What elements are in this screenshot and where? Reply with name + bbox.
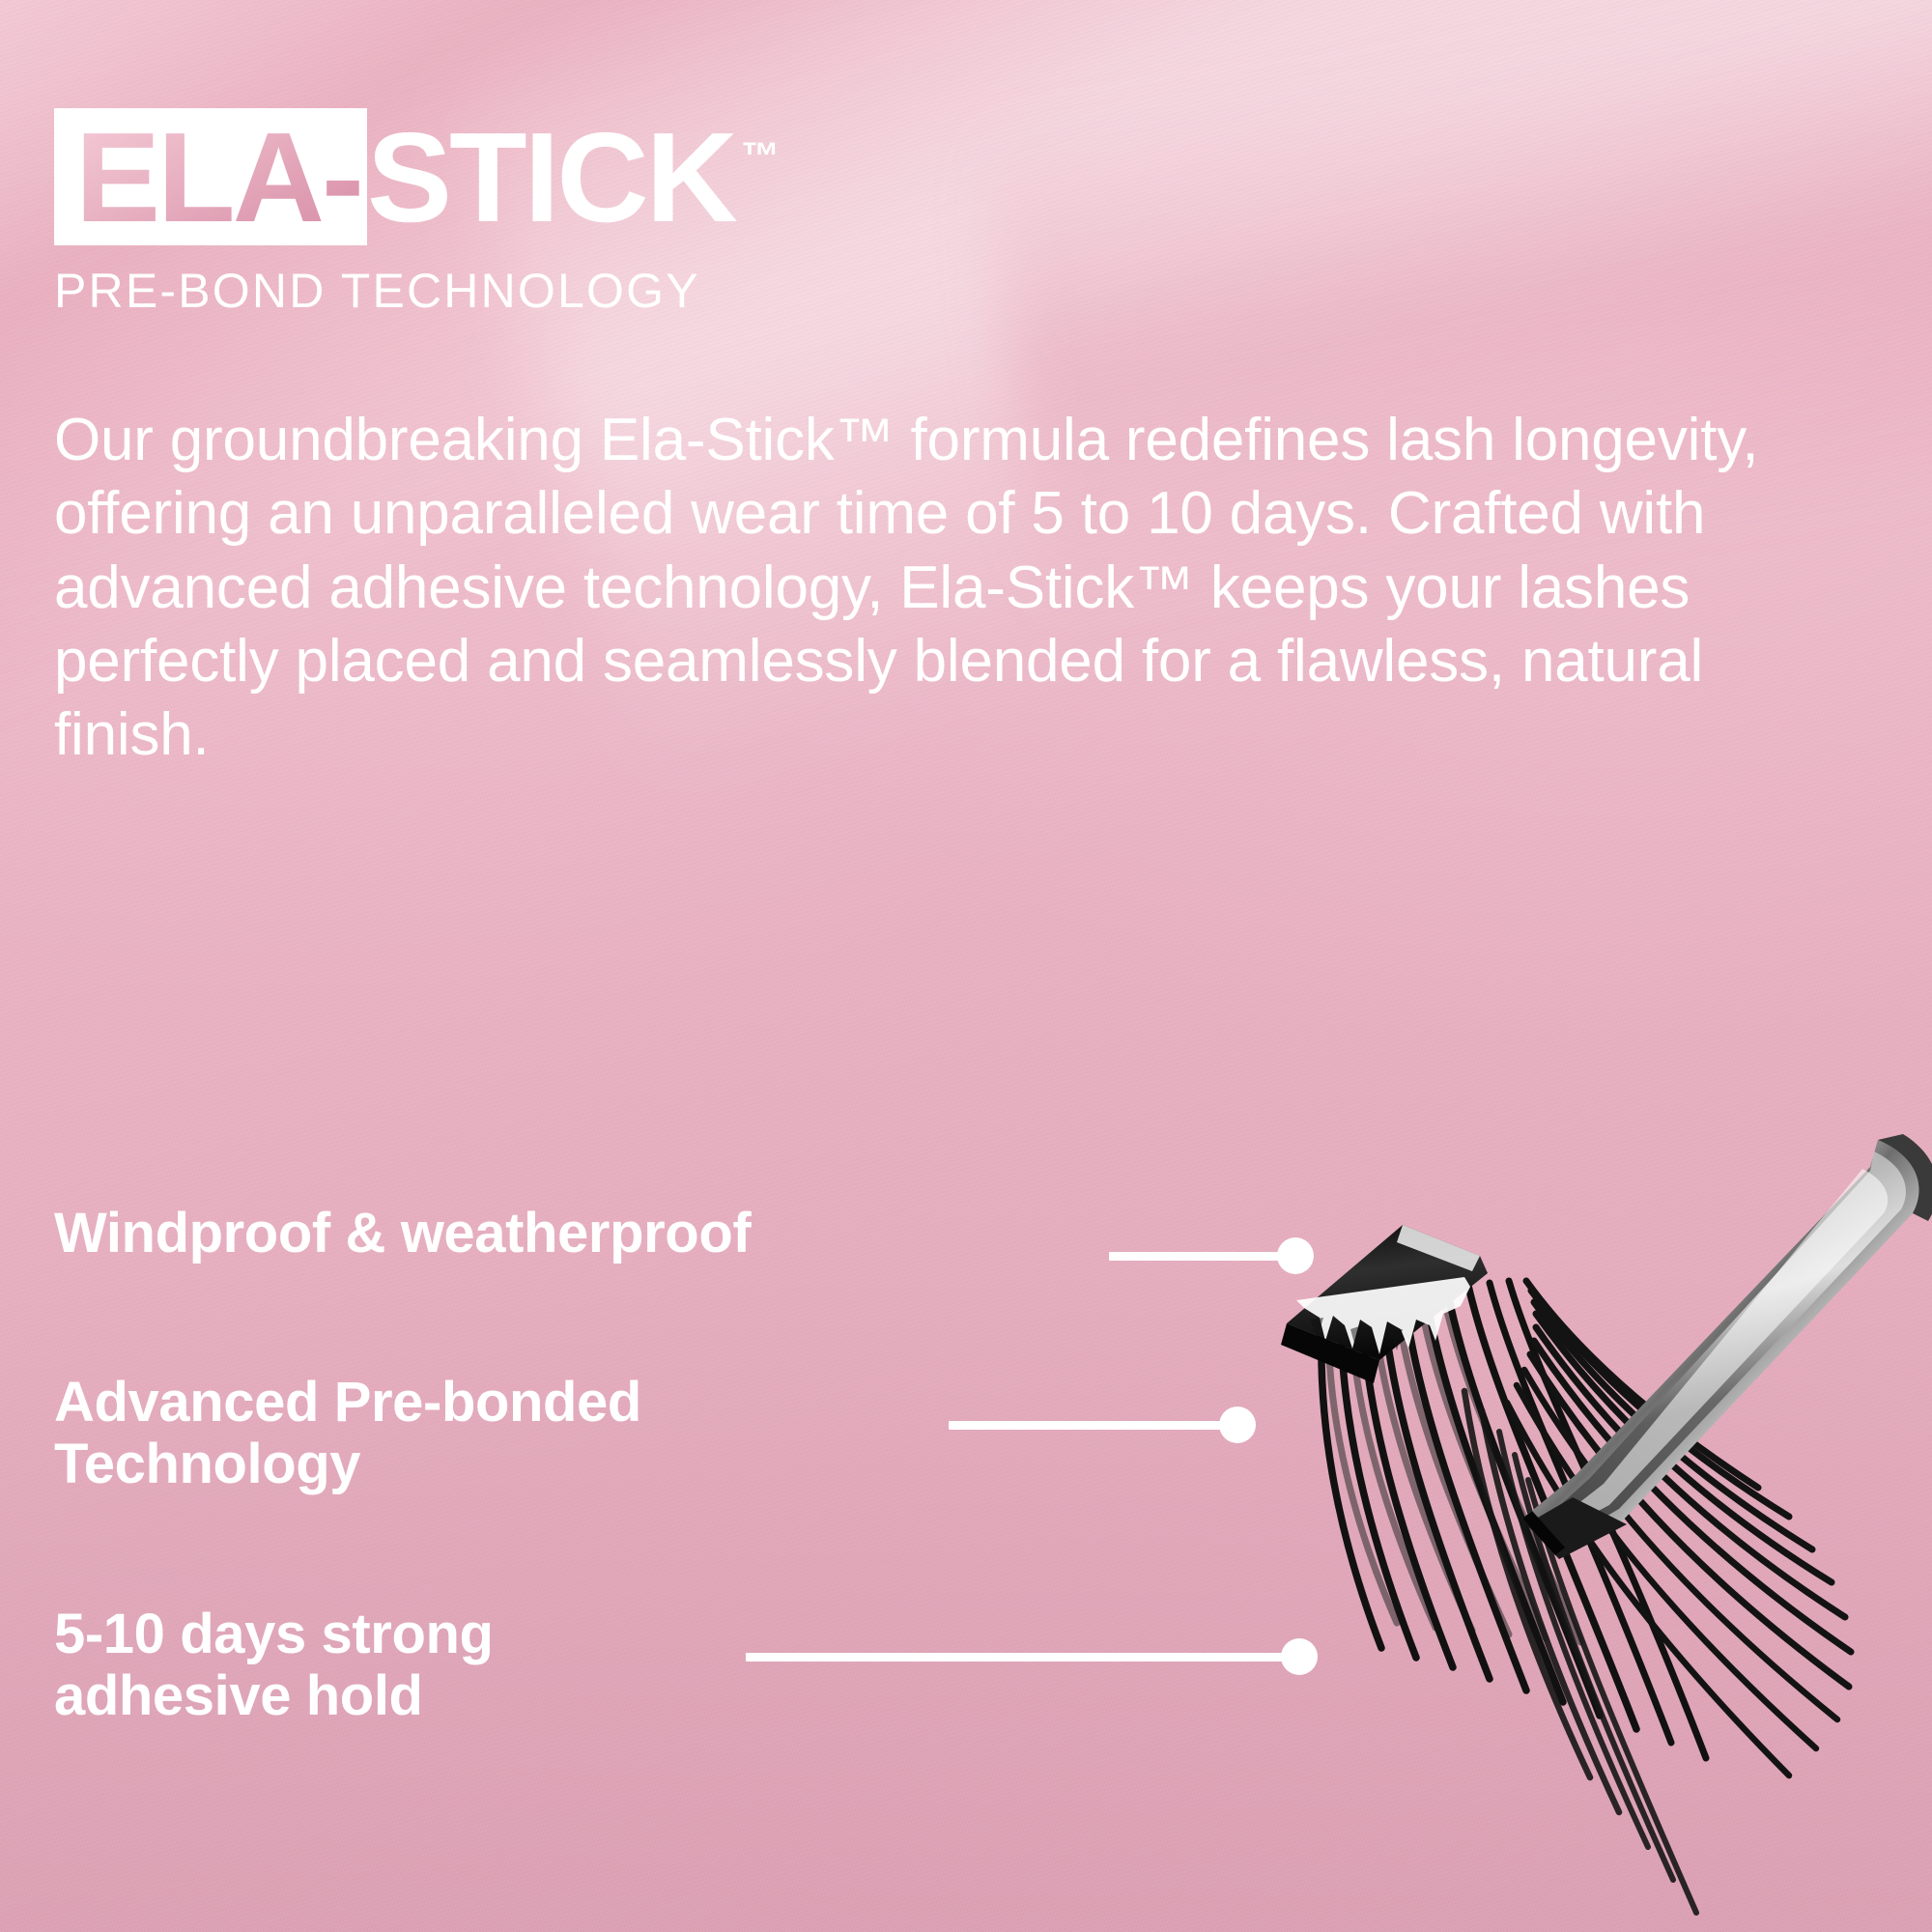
brand-tagline: PRE-BOND TECHNOLOGY bbox=[54, 263, 700, 319]
feature-connector-line bbox=[949, 1421, 1238, 1430]
feature-label: Advanced Pre-bonded Technology bbox=[54, 1372, 641, 1495]
feature-label: Windproof & weatherproof bbox=[54, 1203, 751, 1264]
brand-logo: ELA- STICK ™ bbox=[54, 108, 780, 245]
body-paragraph: Our groundbreaking Ela-Stick™ formula re… bbox=[54, 404, 1870, 772]
logo-boxed-text: ELA- bbox=[75, 126, 361, 230]
lash-band-prebonded bbox=[1281, 1225, 1488, 1383]
trademark-symbol: ™ bbox=[741, 108, 780, 176]
promo-poster: ELA- STICK ™ PRE-BOND TECHNOLOGY Our gro… bbox=[0, 0, 1932, 1932]
product-image-tweezer-and-lash bbox=[1236, 1101, 1932, 1932]
feature-connector-line bbox=[746, 1653, 1300, 1662]
logo-boxed-plate: ELA- bbox=[54, 108, 367, 245]
logo-plain-text: STICK bbox=[367, 108, 735, 230]
feature-label: 5-10 days strong adhesive hold bbox=[54, 1604, 494, 1727]
